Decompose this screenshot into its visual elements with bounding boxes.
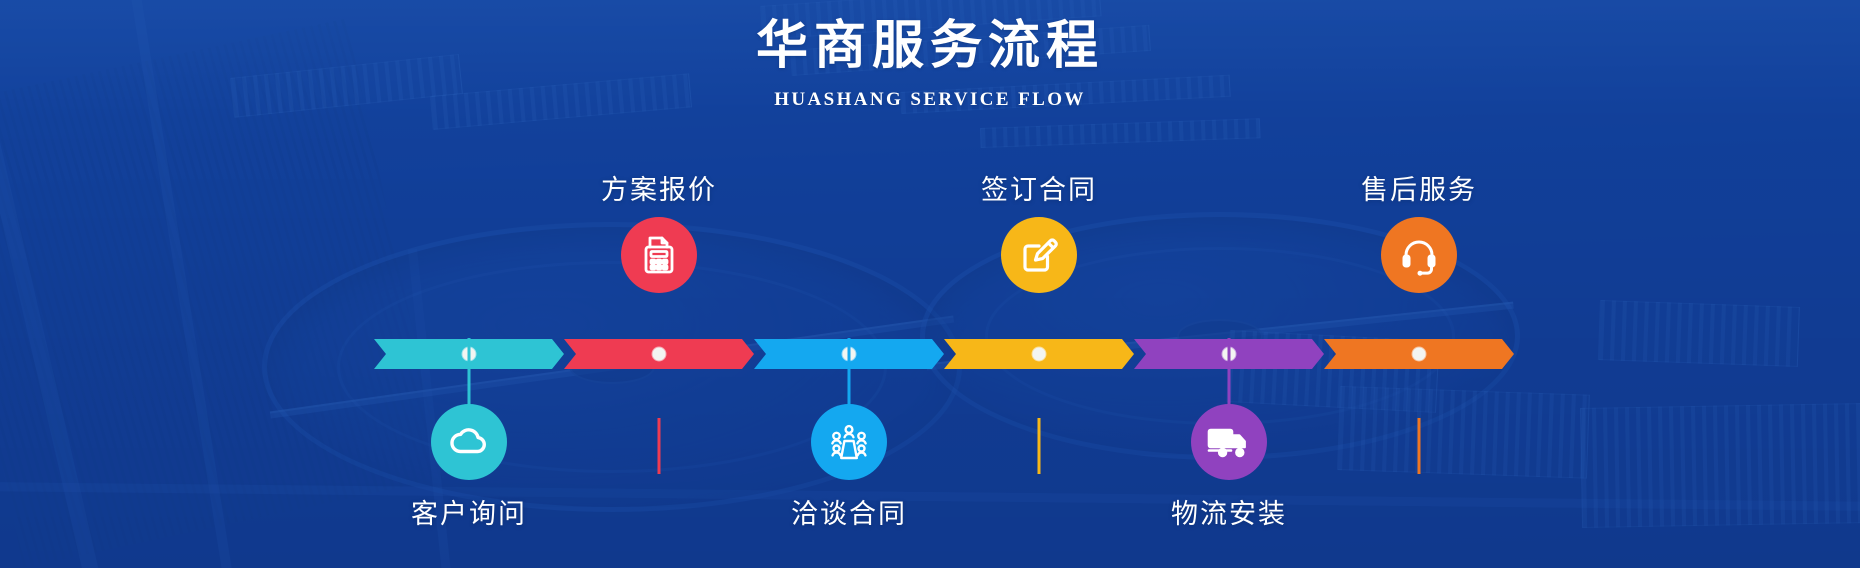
sign-pen-icon [1017, 233, 1061, 277]
delivery-truck-icon-circle[interactable] [1191, 404, 1267, 480]
step-connector-line [1038, 418, 1041, 474]
sign-pen-icon-circle[interactable] [1001, 217, 1077, 293]
flow-chevron-bar [374, 339, 1514, 369]
cloud-icon-circle[interactable] [431, 404, 507, 480]
flow-step-6[interactable]: 售后服务 [1319, 168, 1519, 293]
flow-step-label-1: 客户询问 [369, 492, 569, 531]
banner-content: 华商服务流程 HUASHANG SERVICE FLOW 客户询问方案报价 [0, 0, 1860, 568]
chevron-node-dot [653, 348, 666, 361]
chevron-node-dot [1413, 348, 1426, 361]
meeting-people-icon [827, 421, 871, 463]
chevron-node-dot [1033, 348, 1046, 361]
flow-chevron-2[interactable] [564, 339, 754, 369]
flow-step-1[interactable]: 客户询问 [369, 404, 569, 531]
step-connector-line [1228, 338, 1231, 408]
step-connector-line [468, 338, 471, 408]
flow-chevron-4[interactable] [944, 339, 1134, 369]
step-connector-line [848, 338, 851, 408]
flow-step-label-2: 方案报价 [559, 168, 759, 207]
page-subtitle: HUASHANG SERVICE FLOW [0, 89, 1860, 111]
page-title: 华商服务流程 [0, 16, 1860, 77]
meeting-people-icon-circle[interactable] [811, 404, 887, 480]
cloud-icon [447, 420, 491, 464]
calculator-quote-icon-circle[interactable] [621, 217, 697, 293]
service-flow-banner: 华商服务流程 HUASHANG SERVICE FLOW 客户询问方案报价 [0, 0, 1860, 568]
flow-step-2[interactable]: 方案报价 [559, 168, 759, 293]
flow-step-3[interactable]: 洽谈合同 [749, 404, 949, 531]
flow-step-5[interactable]: 物流安装 [1129, 404, 1329, 531]
headset-support-icon [1397, 233, 1441, 277]
calculator-quote-icon [638, 233, 680, 277]
flow-step-label-5: 物流安装 [1129, 492, 1329, 531]
step-connector-line [1418, 418, 1421, 474]
step-connector-line [658, 418, 661, 474]
flow-step-label-4: 签订合同 [939, 168, 1139, 207]
flow-step-4[interactable]: 签订合同 [939, 168, 1139, 293]
flow-step-label-6: 售后服务 [1319, 168, 1519, 207]
title-block: 华商服务流程 HUASHANG SERVICE FLOW [0, 16, 1860, 111]
flow-step-label-3: 洽谈合同 [749, 492, 949, 531]
delivery-truck-icon [1206, 424, 1252, 460]
headset-support-icon-circle[interactable] [1381, 217, 1457, 293]
flow-chevron-6[interactable] [1324, 339, 1514, 369]
